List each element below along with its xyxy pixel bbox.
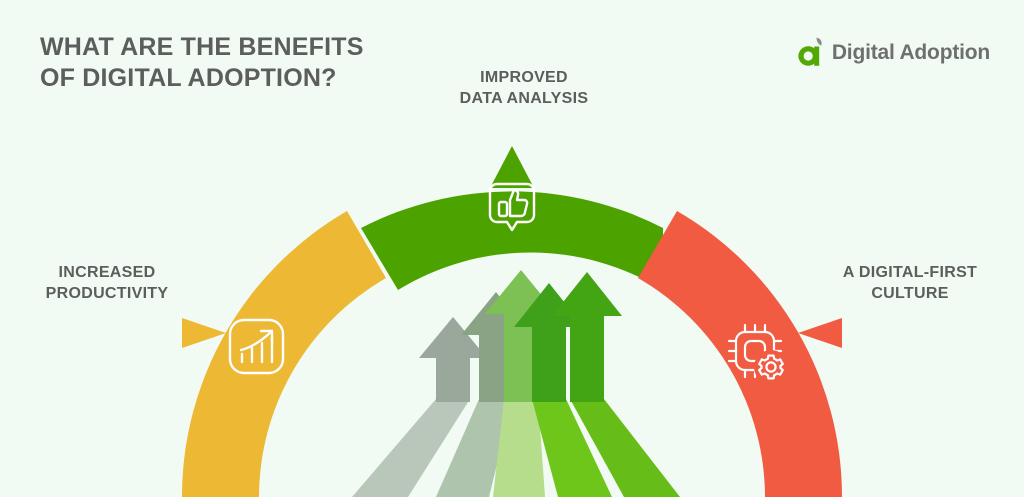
- caption-digital-first-culture: A DIGITAL-FIRST CULTURE: [812, 263, 1008, 305]
- caption-increased-productivity: INCREASED PRODUCTIVITY: [14, 263, 200, 305]
- segment-digital-first-culture-shape: [638, 211, 842, 497]
- leaf-a-logomark-icon: [797, 36, 827, 68]
- segment-digital-first-culture-notch: [798, 318, 842, 348]
- segment-improved-data-analysis-shape: [361, 191, 663, 290]
- segment-improved-data-analysis[interactable]: [361, 146, 663, 290]
- segment-increased-productivity-notch: [182, 318, 226, 348]
- brand-logo: Digital Adoption: [797, 36, 990, 68]
- segment-digital-first-culture[interactable]: [638, 211, 842, 497]
- segment-increased-productivity[interactable]: [182, 211, 386, 497]
- brand-name: Digital Adoption: [832, 42, 990, 63]
- ascending-arrows-group: [352, 270, 680, 497]
- infographic-canvas: WHAT ARE THE BENEFITS OF DIGITAL ADOPTIO…: [0, 0, 1024, 497]
- page-title: WHAT ARE THE BENEFITS OF DIGITAL ADOPTIO…: [40, 32, 440, 93]
- caption-improved-data-analysis: IMPROVED DATA ANALYSIS: [392, 68, 656, 110]
- segment-improved-data-analysis-apex-point: [490, 146, 534, 188]
